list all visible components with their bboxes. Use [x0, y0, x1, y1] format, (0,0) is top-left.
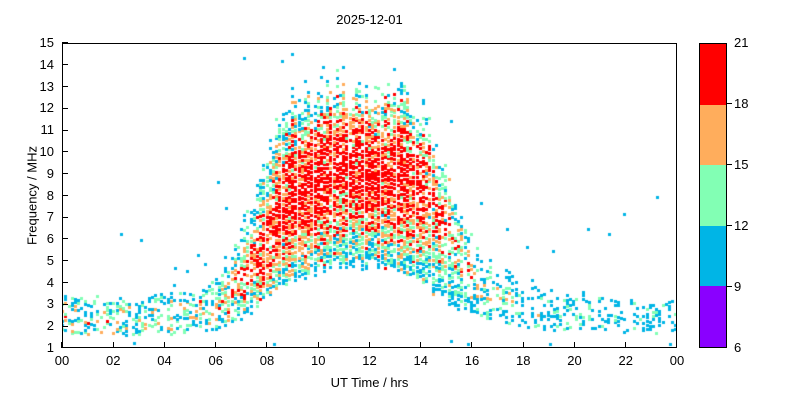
x-tick-mark: [420, 342, 421, 348]
colorbar-tick-mark: [727, 225, 732, 226]
colorbar-band-red: [700, 44, 726, 105]
plot-area: [62, 43, 677, 348]
y-tick-label: 12: [40, 101, 54, 114]
colorbar-tick-mark: [727, 103, 732, 104]
colorbar-tick-mark: [727, 286, 732, 287]
x-tick-mark: [318, 342, 319, 348]
colorbar-band-violet: [700, 286, 726, 347]
y-tick-label: 14: [40, 58, 54, 71]
x-tick-label: 00: [657, 353, 697, 368]
x-axis-title: UT Time / hrs: [62, 375, 677, 390]
y-tick-label: 11: [41, 123, 55, 136]
y-tick-mark: [62, 347, 68, 348]
colorbar-tick-label: 18: [734, 97, 748, 110]
colorbar-tick-label: 15: [734, 158, 748, 171]
x-tick-mark: [369, 342, 370, 348]
colorbar-tick-label: 12: [734, 219, 748, 232]
colorbar-band-orange: [700, 105, 726, 166]
y-tick-label: 6: [47, 232, 54, 245]
x-tick-label: 06: [196, 353, 236, 368]
x-tick-mark: [266, 342, 267, 348]
x-tick-label: 16: [452, 353, 492, 368]
colorbar-tick-label: 9: [734, 280, 741, 293]
colorbar-band-mint-green: [700, 165, 726, 226]
ionogram-figure: 2025-12-01 123456789101112131415 0002040…: [0, 0, 800, 400]
y-tick-label: 2: [47, 319, 54, 332]
y-tick-label: 8: [47, 189, 54, 202]
x-tick-label: 14: [401, 353, 441, 368]
x-tick-mark: [164, 342, 165, 348]
y-tick-mark: [62, 326, 68, 327]
colorbar-tick-label: 6: [734, 341, 741, 354]
y-tick-mark: [62, 151, 68, 152]
x-tick-mark: [574, 342, 575, 348]
y-axis-title: Frequency / MHz: [25, 81, 40, 311]
y-tick-mark: [62, 64, 68, 65]
x-tick-mark: [471, 342, 472, 348]
x-tick-mark: [625, 342, 626, 348]
colorbar-tick-label: 21: [734, 36, 748, 49]
scatter-plot-canvas: [63, 44, 676, 347]
y-tick-mark: [62, 195, 68, 196]
y-tick-label: 4: [47, 276, 54, 289]
x-tick-label: 20: [555, 353, 595, 368]
colorbar: [699, 43, 727, 348]
x-tick-label: 12: [350, 353, 390, 368]
colorbar-band-cyan-blue: [700, 226, 726, 287]
y-tick-mark: [62, 304, 68, 305]
y-tick-label: 15: [40, 36, 54, 49]
y-tick-mark: [62, 108, 68, 109]
y-tick-label: 9: [47, 167, 54, 180]
x-tick-label: 10: [298, 353, 338, 368]
y-tick-mark: [62, 260, 68, 261]
y-tick-mark: [62, 42, 68, 43]
y-tick-mark: [62, 173, 68, 174]
x-tick-mark: [61, 342, 62, 348]
y-tick-mark: [62, 217, 68, 218]
x-tick-label: 08: [247, 353, 287, 368]
x-tick-label: 00: [42, 353, 82, 368]
colorbar-tick-mark: [727, 164, 732, 165]
y-tick-mark: [62, 86, 68, 87]
y-tick-label: 13: [40, 80, 54, 93]
page-title: 2025-12-01: [62, 12, 677, 27]
y-tick-label: 3: [47, 297, 54, 310]
y-tick-label: 5: [47, 254, 54, 267]
x-tick-label: 18: [503, 353, 543, 368]
x-tick-label: 22: [606, 353, 646, 368]
y-tick-mark: [62, 238, 68, 239]
y-tick-mark: [62, 282, 68, 283]
x-tick-mark: [676, 342, 677, 348]
x-tick-label: 02: [93, 353, 133, 368]
x-tick-label: 04: [145, 353, 185, 368]
y-tick-mark: [62, 130, 68, 131]
y-tick-label: 7: [47, 210, 54, 223]
x-tick-mark: [523, 342, 524, 348]
x-tick-mark: [215, 342, 216, 348]
y-tick-label: 10: [40, 145, 54, 158]
x-tick-mark: [113, 342, 114, 348]
